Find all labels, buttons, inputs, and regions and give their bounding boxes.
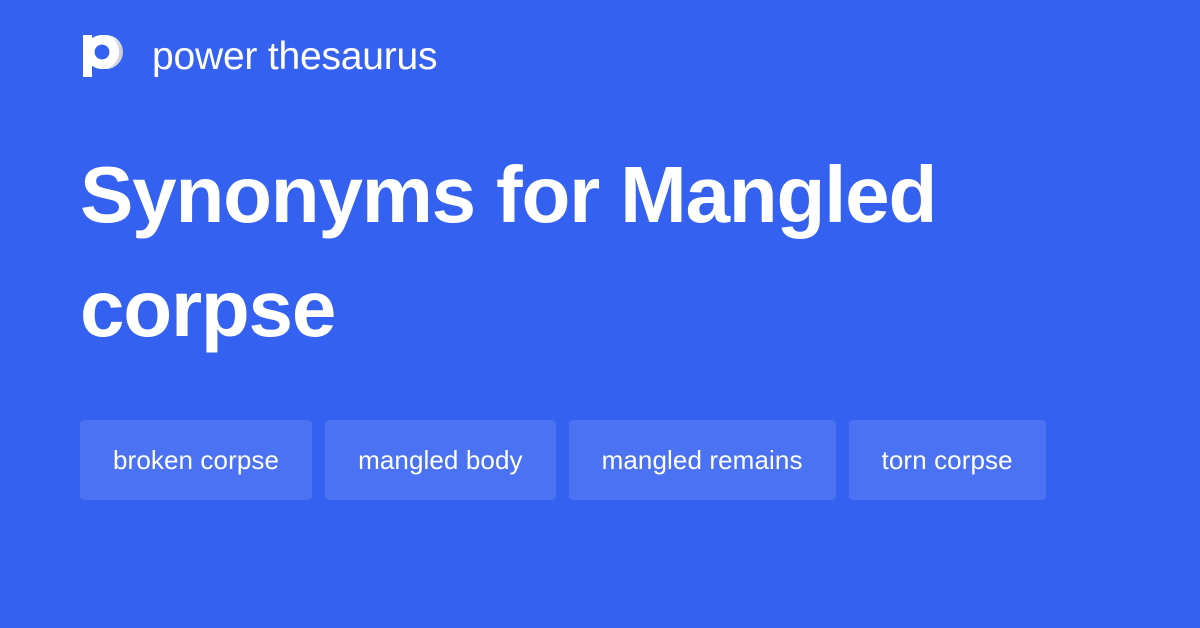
power-thesaurus-logo-icon (80, 32, 126, 80)
page-title: Synonyms for Mangled corpse (80, 138, 1080, 366)
synonym-chip[interactable]: broken corpse (80, 420, 312, 500)
synonym-chip[interactable]: mangled remains (569, 420, 836, 500)
synonym-list: broken corpse mangled body mangled remai… (80, 420, 1120, 500)
brand-name: power thesaurus (152, 37, 437, 76)
share-card: power thesaurus Synonyms for Mangled cor… (0, 0, 1200, 628)
synonym-chip[interactable]: mangled body (325, 420, 556, 500)
brand-lockup[interactable]: power thesaurus (80, 30, 437, 82)
synonym-chip[interactable]: torn corpse (849, 420, 1046, 500)
